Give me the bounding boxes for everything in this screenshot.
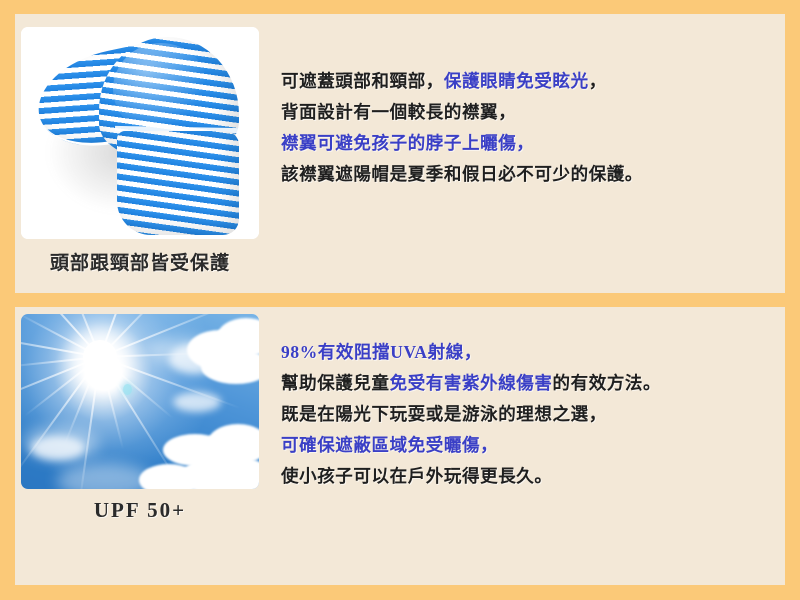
copy-line: 98%有效阻擋UVA射線， (281, 337, 771, 368)
feature-panel-head-neck-protection: 頭部跟頸部皆受保護 可遮蓋頭部和頸部，保護眼睛免受眩光， 背面設計有一個較長的襟… (15, 14, 785, 293)
copy-segment: 幫助保護兒童 (281, 373, 390, 393)
sky-illustration (21, 314, 259, 489)
copy-line: 可遮蓋頭部和頸部，保護眼睛免受眩光， (281, 66, 771, 97)
copy-line: 使小孩子可以在戶外玩得更長久。 (281, 461, 771, 492)
copy-segment-highlight: 襟翼可避免孩子的脖子上曬傷， (281, 133, 534, 153)
panel-copy-head-neck: 可遮蓋頭部和頸部，保護眼睛免受眩光， 背面設計有一個較長的襟翼， 襟翼可避免孩子… (265, 14, 785, 190)
hat-illustration (21, 27, 259, 239)
copy-line: 背面設計有一個較長的襟翼， (281, 97, 771, 128)
copy-segment-highlight: 98%有效阻擋UVA射線， (281, 342, 482, 362)
copy-segment: 既是在陽光下玩耍或是游泳的理想之選， (281, 404, 607, 424)
copy-segment: 背面設計有一個較長的襟翼， (281, 102, 516, 122)
copy-segment: 的有效方法。 (553, 373, 662, 393)
copy-segment: 使小孩子可以在戶外玩得更長久。 (281, 466, 553, 486)
copy-line: 該襟翼遮陽帽是夏季和假日必不可少的保護。 (281, 159, 771, 190)
striped-legionnaire-sun-hat-photo (21, 27, 259, 239)
panel-caption-head-neck: 頭部跟頸部皆受保護 (50, 248, 230, 275)
panel-caption-upf: UPF 50+ (94, 498, 186, 523)
copy-segment-highlight: 可確保遮蔽區域免受曬傷， (281, 435, 498, 455)
copy-line: 幫助保護兒童免受有害紫外線傷害的有效方法。 (281, 368, 771, 399)
panel-media-column: 頭部跟頸部皆受保護 (15, 14, 265, 275)
panel-copy-upf: 98%有效阻擋UVA射線， 幫助保護兒童免受有害紫外線傷害的有效方法。 既是在陽… (265, 307, 785, 492)
copy-segment-highlight: 免受有害紫外線傷害 (390, 373, 553, 393)
copy-segment: 該襟翼遮陽帽是夏季和假日必不可少的保護。 (281, 164, 643, 184)
copy-segment: 可遮蓋頭部和頸部， (281, 71, 444, 91)
hat-highlight (113, 43, 209, 135)
copy-line: 襟翼可避免孩子的脖子上曬傷， (281, 128, 771, 159)
cloud (31, 436, 85, 460)
panel-media-column: UPF 50+ (15, 307, 265, 523)
sun-in-blue-sky-with-clouds-photo (21, 314, 259, 489)
cloud-haze (147, 338, 217, 364)
copy-segment-highlight: 保護眼睛免受眩光 (444, 71, 589, 91)
sun-core (83, 340, 117, 374)
hat-neck-flap (117, 131, 239, 235)
feature-panel-upf-50-plus: UPF 50+ 98%有效阻擋UVA射線， 幫助保護兒童免受有害紫外線傷害的有效… (15, 307, 785, 586)
lens-flare (123, 384, 132, 395)
copy-line: 既是在陽光下玩耍或是游泳的理想之選， (281, 399, 771, 430)
copy-segment: ， (589, 71, 607, 91)
copy-line: 可確保遮蔽區域免受曬傷， (281, 430, 771, 461)
cloud (173, 392, 221, 412)
product-feature-infographic: 頭部跟頸部皆受保護 可遮蓋頭部和頸部，保護眼睛免受眩光， 背面設計有一個較長的襟… (0, 0, 800, 600)
